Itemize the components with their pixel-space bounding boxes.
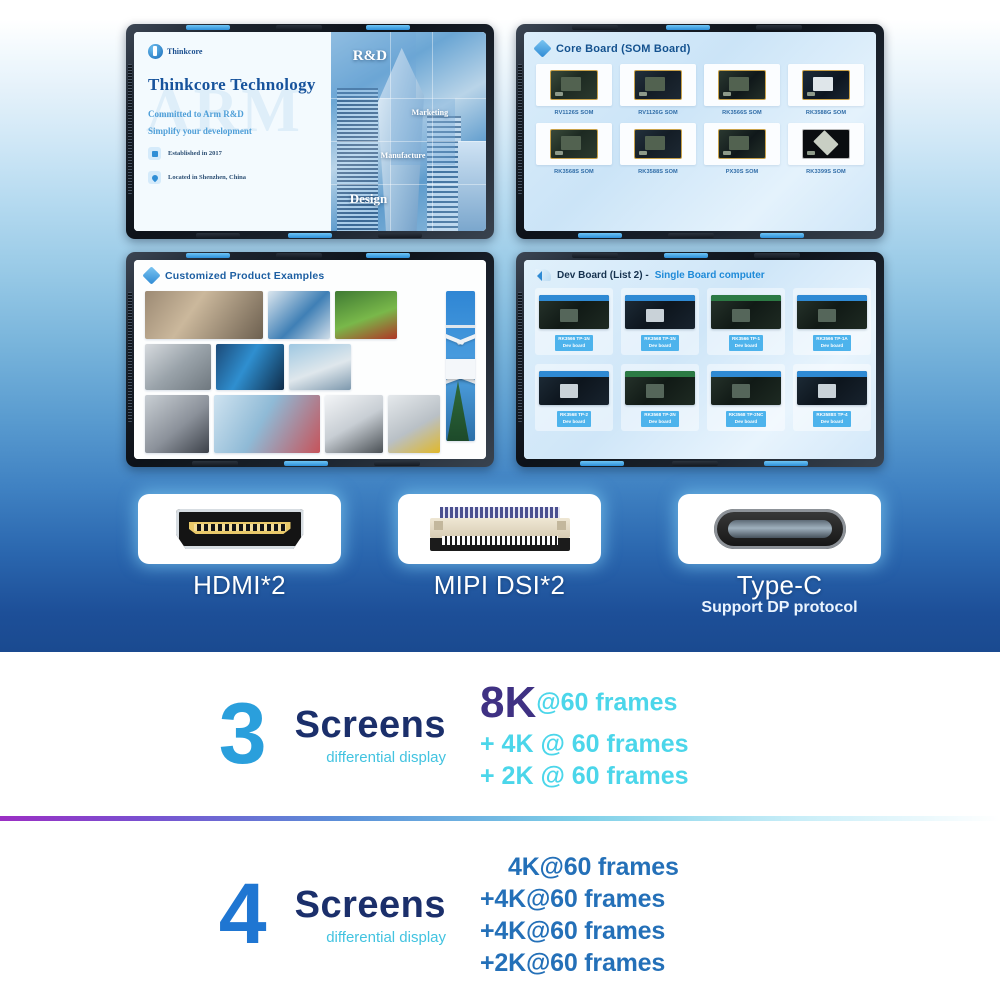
logo-mark-icon (148, 44, 163, 59)
product-photo-collage (145, 291, 475, 453)
vent-icon (518, 64, 522, 194)
mipi-label: MIPI DSI*2 (434, 570, 566, 601)
type-c-sublabel: Support DP protocol (701, 599, 857, 617)
product-collage-left (145, 291, 440, 453)
spec-left-3: 3 Screens differential display (0, 698, 470, 771)
dev-board-thumbnail (539, 293, 609, 331)
ribbon-bullet-icon (535, 269, 551, 281)
photo-lawnmower (335, 291, 397, 339)
mipi-body-icon (430, 518, 570, 538)
spec-headline-value-3: 8K (480, 678, 536, 727)
drone-rotor-icon (446, 325, 473, 328)
som-board-label: PX30S SOM (726, 169, 759, 175)
single-board-computer-icon (625, 371, 695, 405)
som-board-label: RV1126G SOM (638, 110, 678, 116)
som-board-thumbnail (788, 123, 864, 165)
spec-block-4-screens: 4 Screens differential display 4K@60 fra… (0, 835, 1000, 995)
pcb-module-icon (550, 129, 598, 159)
dev-board-label: RK3568 TP-1NDev board (641, 335, 678, 351)
bezel-tab-icon (754, 253, 800, 258)
spec-screens-word-4: Screens (295, 884, 446, 927)
single-board-computer-icon (625, 295, 695, 329)
som-board-item[interactable]: RK3568S SOM (536, 123, 612, 175)
drone-arm-icon (446, 329, 465, 345)
monitor-screen: ARM Thinkcore Thinkcore Technology Commi… (134, 32, 486, 231)
pcb-module-icon (718, 70, 766, 100)
mipi-card (398, 494, 601, 564)
single-board-computer-icon (539, 371, 609, 405)
spec-screens-3: Screens differential display (295, 704, 446, 766)
dev-board-label: RK3566 TP-1NDev board (555, 335, 592, 351)
spec-line: +4K@60 frames (480, 915, 1000, 947)
bezel-tab-icon (374, 461, 420, 466)
dev-board-label: RK3568 TP-2NDev board (641, 411, 678, 427)
pcb-module-icon (634, 70, 682, 100)
mipi-dsi-connector-icon (430, 507, 570, 551)
diamond-bullet-icon (142, 266, 160, 284)
som-board-label: RK3399S SOM (806, 169, 846, 175)
dev-board-thumbnail (797, 293, 867, 331)
som-board-thumbnail (788, 64, 864, 106)
bezel-tab-icon (192, 461, 238, 466)
spec-count-3: 3 (219, 698, 267, 771)
core-board-slide: Core Board (SOM Board) RV1126S SOMRV1126… (524, 32, 876, 231)
som-board-label: RK3588S SOM (638, 169, 678, 175)
single-board-computer-icon (711, 371, 781, 405)
dev-board-label: RK3566 TP-1Dev board (729, 335, 763, 351)
bezel-tab-icon (572, 25, 618, 30)
product-row (145, 395, 440, 453)
keyword-rd: R&D (353, 48, 387, 65)
bezel-tab-icon (288, 233, 332, 238)
dev-board-thumbnail (625, 369, 695, 407)
som-board-item[interactable]: RK3566S SOM (704, 64, 780, 116)
mipi-latch-icon (557, 521, 566, 530)
dev-board-label: RK3568 TP-2NCDev board (726, 411, 767, 427)
monitor-bezel: ARM Thinkcore Thinkcore Technology Commi… (126, 24, 494, 239)
dev-board-grid: RK3566 TP-1NDev boardRK3568 TP-1NDev boa… (535, 288, 865, 431)
type-c-card (678, 494, 881, 564)
slide-subtitle-2: Simplify your development (148, 126, 317, 136)
keyword-manufacture: Manufacture (381, 151, 426, 160)
spec-headline-rate-3: @60 frames (536, 689, 677, 717)
bezel-tab-icon (666, 25, 710, 30)
bezel-tab-icon (366, 25, 410, 30)
dev-board-item[interactable]: RK3568 TP-2Dev board (535, 364, 613, 431)
som-board-thumbnail (536, 123, 612, 165)
monitor-screen: Customized Product Examples (134, 260, 486, 459)
fact-location: Located in Shenzhen, China (148, 171, 317, 184)
promo-page: ARM Thinkcore Thinkcore Technology Commi… (0, 0, 1000, 1000)
dev-board-header: Dev Board (List 2) - Single Board comput… (535, 269, 865, 281)
som-board-label: RK3566S SOM (722, 110, 762, 116)
type-c-cavity-icon (728, 520, 832, 538)
single-board-computer-icon (797, 295, 867, 329)
spec-count-4: 4 (219, 878, 267, 951)
dev-board-label: RK3568 TP-2Dev board (557, 411, 591, 427)
som-board-item[interactable]: RK3399S SOM (788, 123, 864, 175)
bezel-tab-icon (186, 253, 230, 258)
spec-block-3-screens: 3 Screens differential display 8K@60 fra… (0, 660, 1000, 810)
bezel-tab-icon (186, 25, 230, 30)
dev-board-thumbnail (539, 369, 609, 407)
monitor-bezel: Dev Board (List 2) - Single Board comput… (516, 252, 884, 467)
type-c-label: Type-C (737, 570, 823, 601)
fact-established-text: Established in 2017 (168, 150, 222, 157)
bezel-tab-icon (196, 233, 240, 238)
slide-subtitle-1: Committed to Arm R&D (148, 109, 317, 119)
hdmi-pins-icon (194, 524, 286, 531)
company-slide: ARM Thinkcore Thinkcore Technology Commi… (134, 32, 486, 231)
bezel-tab-icon (760, 233, 804, 238)
spec-row: 3 Screens differential display 8K@60 fra… (0, 660, 1000, 810)
pcb-module-icon (634, 129, 682, 159)
bezel-tab-icon (668, 233, 714, 238)
logo-text: Thinkcore (167, 47, 202, 56)
fact-location-text: Located in Shenzhen, China (168, 174, 246, 181)
monitor-customized-products: Customized Product Examples (126, 252, 494, 467)
som-board-thumbnail (704, 64, 780, 106)
som-board-label: RK3588G SOM (806, 110, 846, 116)
monitor-company-slide: ARM Thinkcore Thinkcore Technology Commi… (126, 24, 494, 239)
monitor-core-boards: Core Board (SOM Board) RV1126S SOMRV1126… (516, 24, 884, 239)
hdmi-label: HDMI*2 (193, 570, 286, 601)
thinkcore-logo: Thinkcore (148, 44, 317, 59)
spec-line: +2K@60 frames (480, 947, 1000, 979)
som-board-item[interactable]: RK3588G SOM (788, 64, 864, 116)
som-board-thumbnail (620, 64, 696, 106)
hdmi-connector-icon (176, 509, 304, 549)
keyword-marketing: Marketing (412, 108, 448, 117)
monitor-bezel: Core Board (SOM Board) RV1126S SOMRV1126… (516, 24, 884, 239)
bezel-tab-icon (764, 461, 808, 466)
company-slide-photo: R&D Marketing Manufacture Design (331, 32, 486, 231)
hdmi-card (138, 494, 341, 564)
photo-turnstile (145, 344, 211, 390)
som-board-label: RK3568S SOM (554, 169, 594, 175)
dev-board-thumbnail (625, 293, 695, 331)
dev-board-thumbnail (797, 369, 867, 407)
slide-title: Thinkcore Technology (148, 75, 317, 95)
dev-board-item[interactable]: RK3588S TP-4Dev board (793, 364, 871, 431)
core-board-header: Core Board (SOM Board) (536, 42, 864, 55)
tree-shape-icon (447, 381, 469, 441)
spec-screens-word-3: Screens (295, 704, 446, 747)
monitor-bezel: Customized Product Examples (126, 252, 494, 467)
pcb-module-icon (802, 70, 850, 100)
single-board-computer-icon (539, 295, 609, 329)
dev-board-item[interactable]: RK3566 TP-1Dev board (707, 288, 785, 355)
connector-hdmi: HDMI*2 (138, 494, 341, 601)
spec-line: +4K@60 frames (480, 883, 1000, 915)
spec-row: 4 Screens differential display 4K@60 fra… (0, 835, 1000, 995)
bezel-tab-icon (578, 233, 622, 238)
bezel-tab-icon (580, 461, 624, 466)
spec-screens-sub-3: differential display (295, 749, 446, 766)
spec-screens-4: Screens differential display (295, 884, 446, 946)
monitor-screen: Dev Board (List 2) - Single Board comput… (524, 260, 876, 459)
company-slide-left: ARM Thinkcore Thinkcore Technology Commi… (134, 32, 331, 231)
usb-type-c-connector-icon (714, 509, 846, 549)
drone-body-icon (446, 359, 475, 379)
pcb-module-icon (550, 70, 598, 100)
som-board-thumbnail (536, 64, 612, 106)
spec-headline-3: 8K@60 frames (480, 678, 1000, 728)
customized-products-title: Customized Product Examples (165, 270, 324, 282)
dev-board-title-accent: Single Board computer (655, 270, 765, 281)
mipi-contacts-icon (442, 536, 558, 545)
pcb-module-icon (718, 129, 766, 159)
photo-tablet (268, 291, 330, 339)
som-board-item[interactable]: RV1126G SOM (620, 64, 696, 116)
location-pin-icon (148, 171, 161, 184)
spec-screens-sub-4: differential display (295, 929, 446, 946)
bezel-tab-icon (378, 233, 422, 238)
spec-right-4: 4K@60 frames +4K@60 frames +4K@60 frames… (470, 851, 1000, 979)
som-board-item[interactable]: RV1126S SOM (536, 64, 612, 116)
product-row (145, 344, 440, 390)
photo-cctv (289, 344, 351, 390)
diamond-bullet-icon (533, 39, 551, 57)
spec-line: + 4K @ 60 frames (480, 728, 1000, 760)
dev-board-item[interactable]: RK3568 TP-2NDev board (621, 364, 699, 431)
bezel-tab-icon (664, 253, 708, 258)
customized-products-slide: Customized Product Examples (134, 260, 486, 459)
photo-robots (388, 395, 440, 453)
customized-products-header: Customized Product Examples (145, 269, 475, 282)
photo-drone (446, 291, 475, 441)
vent-icon (128, 292, 132, 422)
dev-board-title: Dev Board (List 2) - (557, 270, 649, 281)
core-board-grid: RV1126S SOMRV1126G SOMRK3566S SOMRK3588G… (536, 64, 864, 175)
spec-line: + 2K @ 60 frames (480, 760, 1000, 792)
som-board-thumbnail (704, 123, 780, 165)
vent-icon (128, 64, 132, 194)
spec-divider (0, 816, 1000, 821)
core-board-title: Core Board (SOM Board) (556, 43, 691, 55)
bezel-tab-icon (572, 253, 618, 258)
dev-board-label: RK3588S TP-4Dev board (813, 411, 850, 427)
photo-office (145, 395, 209, 453)
spec-line: 4K@60 frames (480, 851, 1000, 883)
dev-board-item[interactable]: RK3566 TP-1ADev board (793, 288, 871, 355)
bezel-tab-icon (756, 25, 802, 30)
bezel-tab-icon (276, 253, 322, 258)
dev-board-label: RK3566 TP-1ADev board (813, 335, 850, 351)
fact-established: Established in 2017 (148, 147, 317, 160)
dev-board-item[interactable]: RK3568 TP-1NDev board (621, 288, 699, 355)
som-board-item[interactable]: RK3588S SOM (620, 123, 696, 175)
photo-pos-terminal (325, 395, 383, 453)
dev-board-item[interactable]: RK3568 TP-2NCDev board (707, 364, 785, 431)
mipi-latch-icon (434, 521, 443, 530)
dev-board-item[interactable]: RK3566 TP-1NDev board (535, 288, 613, 355)
product-row (145, 291, 440, 339)
vent-icon (518, 292, 522, 422)
dev-board-thumbnail (711, 369, 781, 407)
monitor-screen: Core Board (SOM Board) RV1126S SOMRV1126… (524, 32, 876, 231)
dev-board-thumbnail (711, 293, 781, 331)
spec-right-3: 8K@60 frames + 4K @ 60 frames + 2K @ 60 … (470, 678, 1000, 792)
bezel-tab-icon (284, 461, 328, 466)
som-board-item[interactable]: PX30S SOM (704, 123, 780, 175)
som-board-label: RV1126S SOM (555, 110, 594, 116)
single-board-computer-icon (711, 295, 781, 329)
photo-face-recognition (214, 395, 320, 453)
photo-kiosk (145, 291, 263, 339)
building-icon (148, 147, 161, 160)
bezel-tab-icon (276, 25, 322, 30)
product-collage-right (446, 291, 475, 453)
spec-left-4: 4 Screens differential display (0, 878, 470, 951)
photo-video-wall (216, 344, 284, 390)
connector-type-c: Type-C Support DP protocol (678, 494, 881, 617)
dev-board-slide: Dev Board (List 2) - Single Board comput… (524, 260, 876, 459)
keyword-design: Design (350, 191, 388, 207)
single-board-computer-icon (797, 371, 867, 405)
connector-mipi-dsi: MIPI DSI*2 (398, 494, 601, 601)
bezel-tab-icon (672, 461, 718, 466)
bezel-tab-icon (366, 253, 410, 258)
pcb-module-icon (802, 129, 850, 159)
monitor-dev-boards: Dev Board (List 2) - Single Board comput… (516, 252, 884, 467)
som-board-thumbnail (620, 123, 696, 165)
